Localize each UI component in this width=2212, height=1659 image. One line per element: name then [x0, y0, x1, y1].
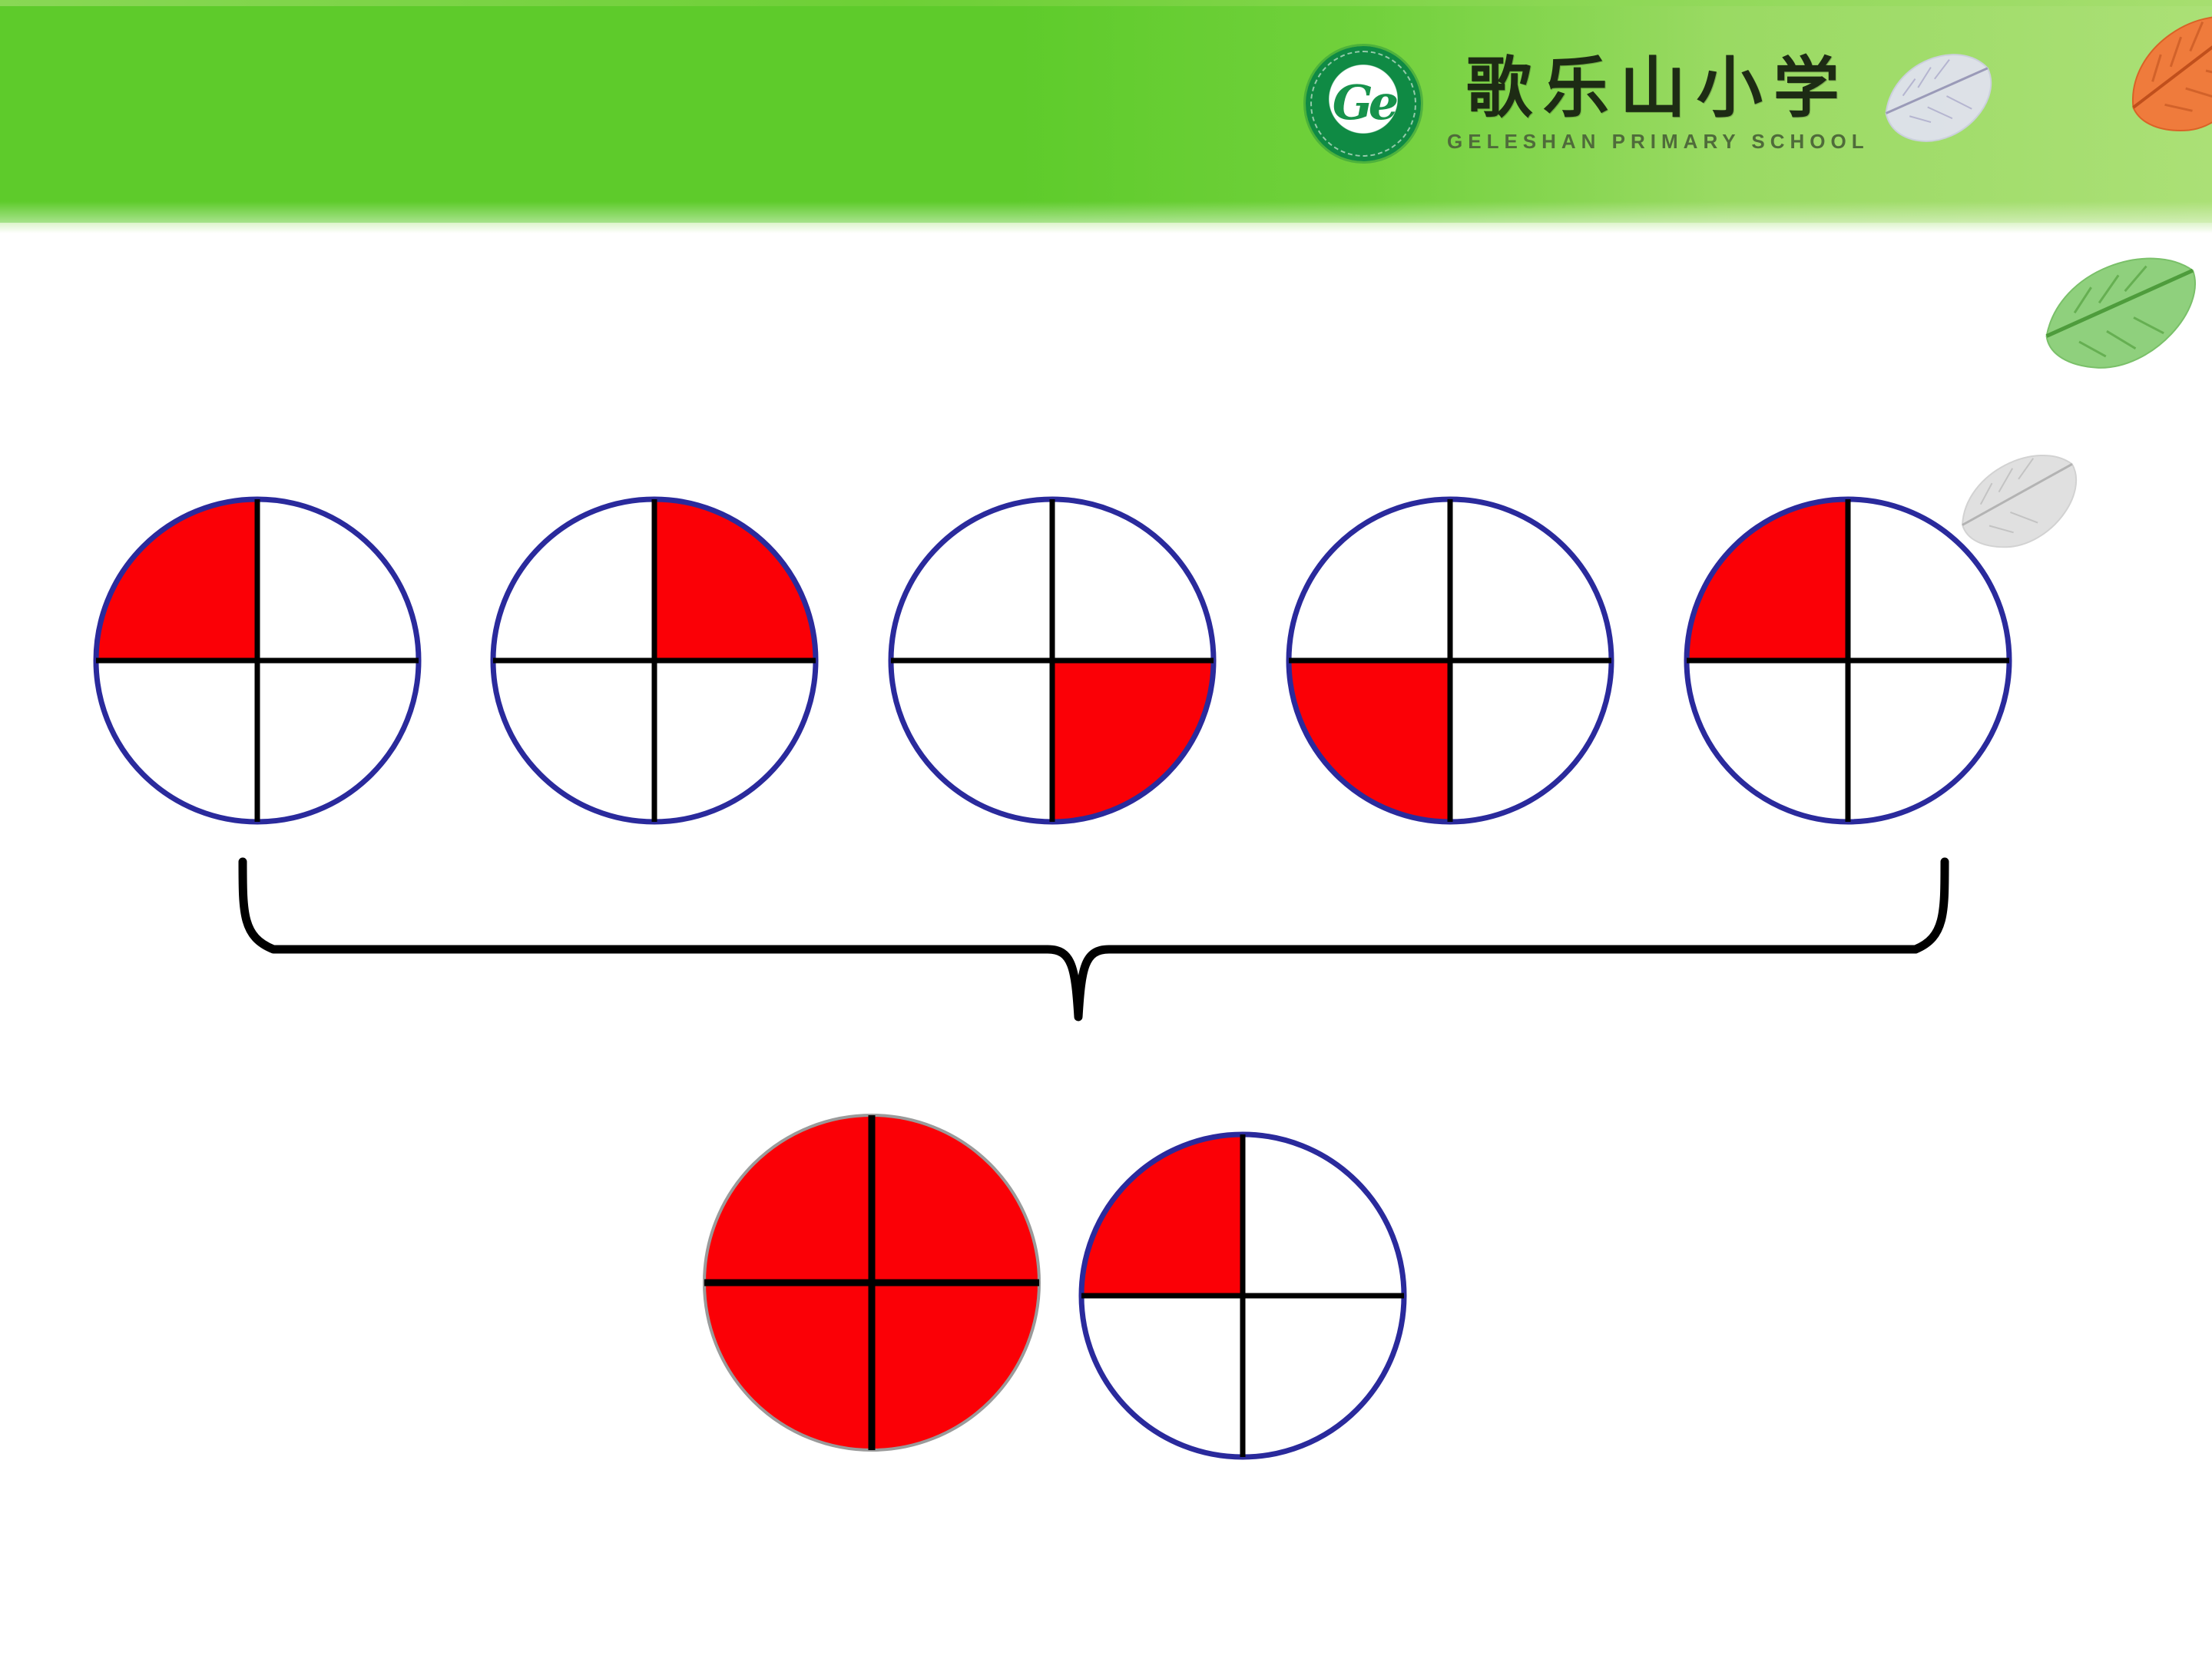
- result-circle-1[interactable]: [699, 1106, 1045, 1459]
- circle-4[interactable]: [1281, 488, 1619, 833]
- grouping-brace: [215, 853, 1951, 1083]
- fraction-figure-stage: [0, 0, 2212, 1659]
- circle-3[interactable]: [883, 488, 1221, 833]
- result-circle-2[interactable]: [1074, 1123, 1412, 1469]
- circle-2[interactable]: [485, 488, 823, 833]
- circle-5[interactable]: [1679, 488, 2017, 833]
- circle-1[interactable]: [88, 488, 426, 833]
